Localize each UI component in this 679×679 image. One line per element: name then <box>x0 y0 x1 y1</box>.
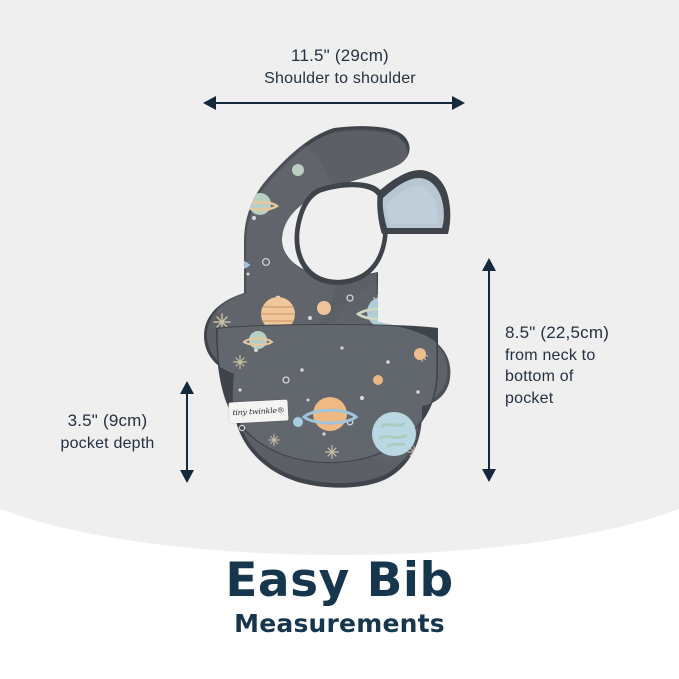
brand-tag: tiny twinkle® <box>228 399 288 423</box>
brand-tag-text: tiny twinkle® <box>232 406 284 417</box>
height-description-line2: bottom of <box>505 366 670 387</box>
pocket-arrow-head-down <box>180 470 194 483</box>
width-arrow-head-right <box>452 96 465 110</box>
pocket-arrow-line <box>186 394 188 470</box>
page-title: Easy Bib <box>0 556 679 605</box>
neck-opening <box>295 182 388 285</box>
planet-peach-small-3 <box>216 200 228 212</box>
width-measurement-label: 11.5" (29cm) Shoulder to shoulder <box>180 45 500 89</box>
planet-peach-small-1 <box>317 301 331 315</box>
height-arrow-line <box>488 271 490 469</box>
height-description-line1: from neck to <box>505 345 670 366</box>
bib-illustration <box>182 122 474 490</box>
pocket-planet-blue <box>293 417 303 427</box>
pocket-measurement-label: 3.5" (9cm) pocket depth <box>40 410 175 454</box>
page-subtitle: Measurements <box>0 609 679 638</box>
infographic-page: tiny twinkle® 11.5" (29cm) Shoulder to s… <box>0 0 679 679</box>
width-value: 11.5" (29cm) <box>180 45 500 68</box>
planet-green-small-1 <box>292 164 304 176</box>
height-value: 8.5" (22,5cm) <box>505 322 670 345</box>
title-block: Easy Bib Measurements <box>0 556 679 638</box>
height-arrow-head-up <box>482 258 496 271</box>
height-measurement-label: 8.5" (22,5cm) from neck to bottom of poc… <box>505 322 670 409</box>
pocket-arrow-head-up <box>180 381 194 394</box>
pocket-planet-peach-2 <box>373 375 383 385</box>
bib-body <box>200 126 462 488</box>
pocket-planet-earth <box>372 412 416 456</box>
right-shoulder-flap <box>377 170 450 234</box>
pocket-planet-peach <box>414 348 426 360</box>
width-description: Shoulder to shoulder <box>180 68 500 89</box>
width-arrow-line <box>216 102 452 104</box>
width-arrow-head-left <box>203 96 216 110</box>
pocket-description: pocket depth <box>40 433 175 454</box>
planet-orange-upper-left <box>200 247 248 277</box>
height-arrow-head-down <box>482 469 496 482</box>
pocket-value: 3.5" (9cm) <box>40 410 175 433</box>
planet-orange-right <box>403 234 453 266</box>
height-description-line3: pocket <box>505 388 670 409</box>
